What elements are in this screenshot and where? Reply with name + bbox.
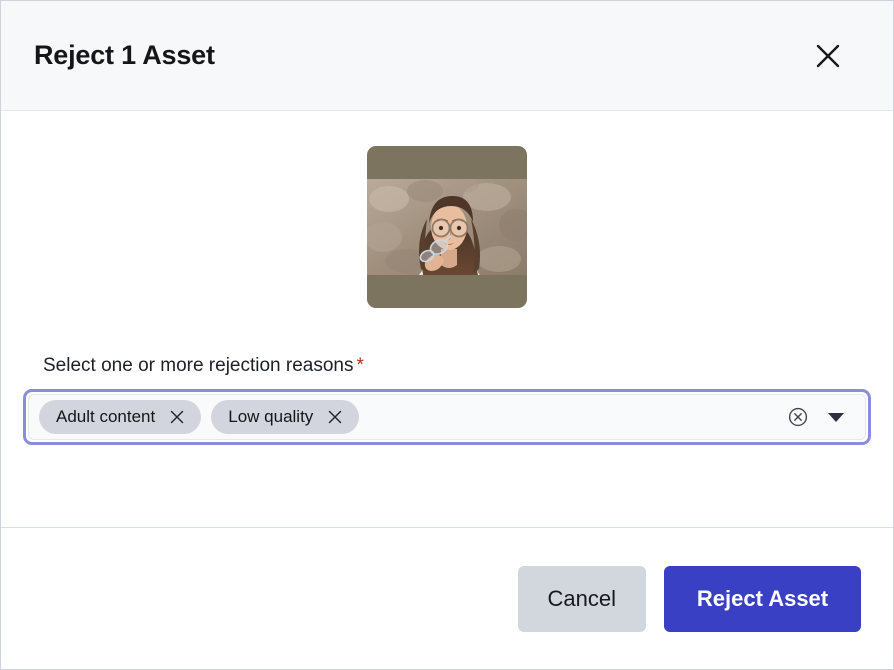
page-title: Reject 1 Asset (34, 42, 215, 69)
multiselect-actions (788, 407, 855, 427)
asset-preview-area (1, 111, 893, 308)
rejection-reasons-multiselect[interactable]: Adult content Low quality (23, 389, 871, 445)
asset-photo (367, 179, 527, 275)
chip-label: Adult content (56, 407, 155, 427)
multiselect-inner[interactable]: Adult content Low quality (28, 394, 866, 440)
field-label-text: Select one or more rejection reasons (43, 355, 354, 376)
chip-label: Low quality (228, 407, 313, 427)
chip-remove-icon[interactable] (168, 408, 186, 426)
dialog-body: Select one or more rejection reasons* Ad… (1, 111, 893, 527)
chip-remove-icon[interactable] (326, 408, 344, 426)
reject-asset-button[interactable]: Reject Asset (664, 566, 861, 632)
cancel-button[interactable]: Cancel (518, 566, 646, 632)
chevron-down-icon[interactable] (827, 411, 845, 423)
rejection-reasons-label: Select one or more rejection reasons* (23, 356, 871, 375)
close-dialog-button[interactable] (809, 37, 847, 75)
dialog-header: Reject 1 Asset (1, 1, 893, 111)
close-icon (815, 43, 841, 69)
clear-circle-icon[interactable] (788, 407, 808, 427)
rejection-reasons-field: Select one or more rejection reasons* Ad… (1, 356, 893, 445)
asset-thumbnail (367, 146, 527, 308)
required-asterisk: * (357, 355, 364, 376)
dialog-footer: Cancel Reject Asset (1, 527, 893, 669)
selected-chip[interactable]: Adult content (39, 400, 201, 434)
selected-chip[interactable]: Low quality (211, 400, 359, 434)
reject-asset-dialog: Reject 1 Asset (0, 0, 894, 670)
